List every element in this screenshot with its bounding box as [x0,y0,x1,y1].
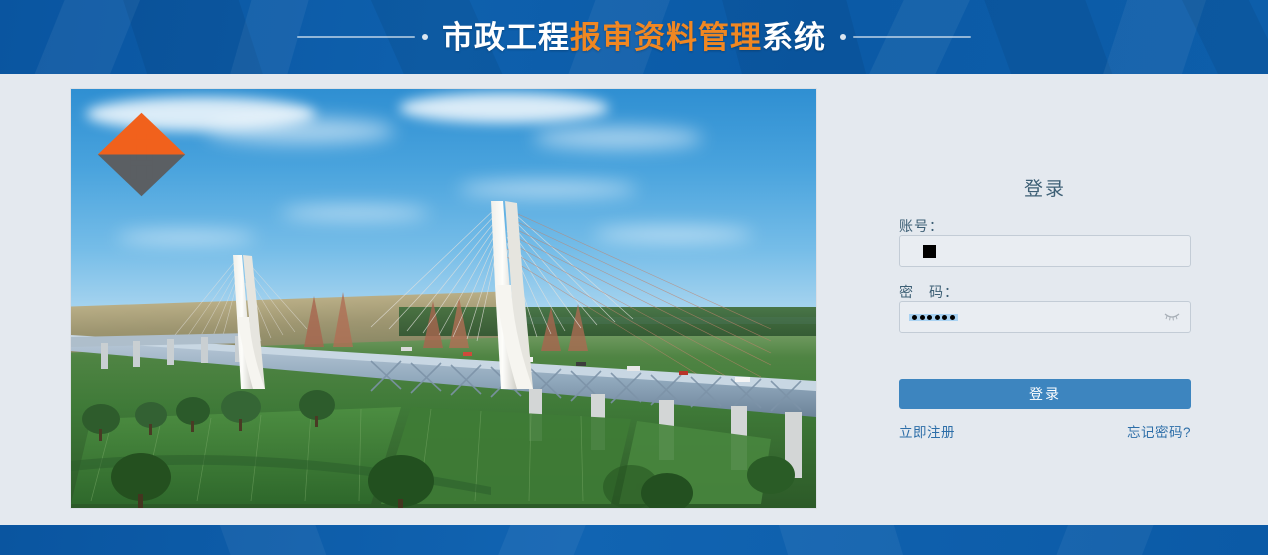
app-header-banner: 市政工程报审资料管理系统 [0,0,1268,74]
account-input[interactable] [899,235,1191,267]
password-input-value [909,314,958,321]
bridge-diamond-logo [94,107,189,202]
password-input[interactable] [899,301,1191,333]
eye-closed-icon[interactable] [1164,308,1180,326]
password-label: 密 码： [899,282,959,302]
deco-dot-right [840,34,846,40]
account-field-group: 账号： [899,235,1191,267]
deco-dot-left [422,34,428,40]
app-footer-bar [0,525,1268,555]
account-input-value [923,245,936,258]
page-title: 市政工程报审资料管理系统 [442,22,826,53]
login-page: 市政工程报审资料管理系统 [0,0,1268,555]
account-label: 账号： [899,216,944,236]
deco-line-right [853,36,971,38]
login-links: 立即注册 忘记密码? [899,421,1191,441]
hero-bridge-image [71,89,816,508]
password-field-group: 密 码： [899,301,1191,333]
register-link[interactable]: 立即注册 [899,421,955,441]
header-decoration-left [297,34,428,40]
login-form: 登录 账号： 密 码： [899,174,1191,441]
main-content: 登录 账号： 密 码： [0,74,1268,525]
title-segment-2: 报审资料管理 [570,20,762,55]
login-heading: 登录 [899,174,1191,201]
login-submit-button[interactable]: 登录 [899,379,1191,409]
forgot-password-link[interactable]: 忘记密码? [1127,421,1191,441]
title-segment-3: 系统 [762,20,826,55]
title-segment-1: 市政工程 [442,20,570,55]
deco-line-left [297,36,415,38]
header-decoration-right [840,34,971,40]
